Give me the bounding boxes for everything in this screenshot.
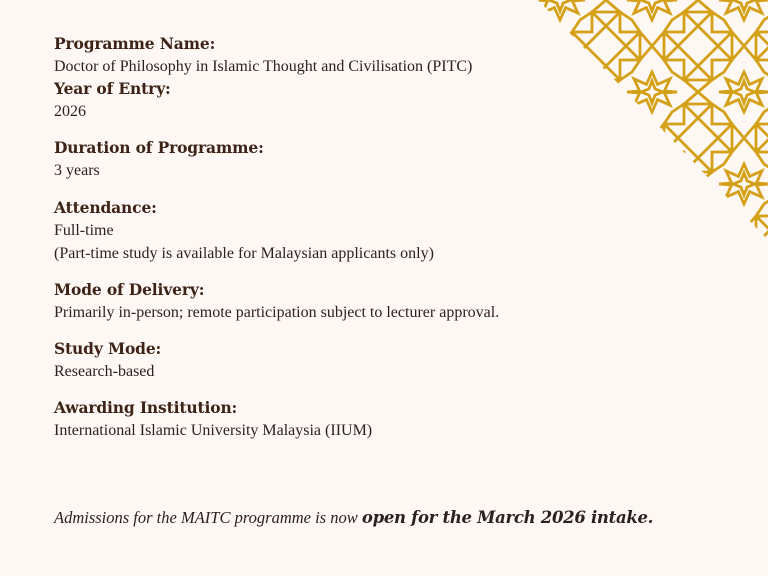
admissions-note-emphasis: open for the March 2026 intake. [362,508,653,527]
field-value: Full-time [54,219,714,242]
field-value-note: (Part-time study is available for Malays… [54,242,714,265]
field-value: Research-based [54,360,714,383]
field-value: International Islamic University Malaysi… [54,419,714,442]
field-value: 3 years [54,159,714,182]
field-label: Year of Entry: [54,78,714,100]
field-value: 2026 [54,100,714,123]
field-label: Mode of Delivery: [54,279,714,301]
field-duration-of-programme: Duration of Programme: 3 years [54,137,714,182]
admissions-note: Admissions for the MAITC programme is no… [54,507,653,528]
field-label: Awarding Institution: [54,397,714,419]
field-label: Attendance: [54,197,714,219]
poster-page: Programme Name: Doctor of Philosophy in … [0,0,768,576]
field-value: Primarily in-person; remote participatio… [54,301,714,324]
field-year-of-entry: Year of Entry: 2026 [54,78,714,123]
field-awarding-institution: Awarding Institution: International Isla… [54,397,714,442]
admissions-note-lead: Admissions for the MAITC programme is no… [54,508,362,527]
field-label: Duration of Programme: [54,137,714,159]
field-mode-of-delivery: Mode of Delivery: Primarily in-person; r… [54,279,714,324]
field-value: Doctor of Philosophy in Islamic Thought … [54,55,714,78]
field-programme-name: Programme Name: Doctor of Philosophy in … [54,33,714,78]
programme-details: Programme Name: Doctor of Philosophy in … [54,33,714,457]
field-label: Programme Name: [54,33,714,55]
field-study-mode: Study Mode: Research-based [54,338,714,383]
field-label: Study Mode: [54,338,714,360]
field-attendance: Attendance: Full-time (Part-time study i… [54,197,714,265]
